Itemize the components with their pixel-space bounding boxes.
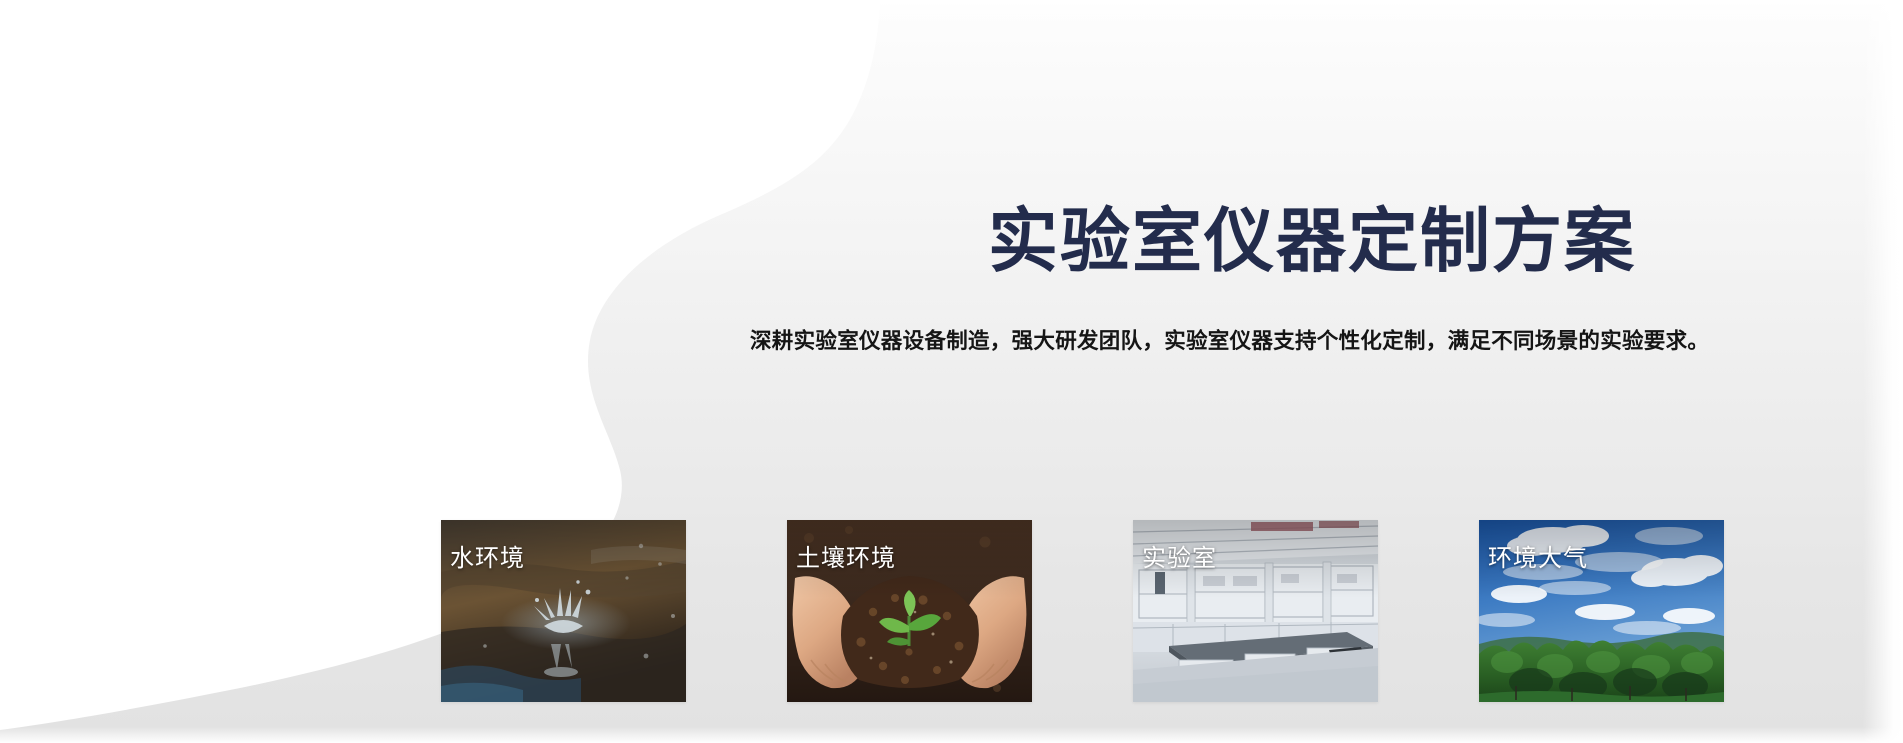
card-label-soil: 土壤环境 [796, 538, 896, 573]
card-label-water: 水环境 [450, 538, 525, 573]
laboratory-instrument-banner: 实验室仪器定制方案 深耕实验室仪器设备制造，强大研发团队，实验室仪器支持个性化定… [0, 0, 1903, 743]
page-title: 实验室仪器定制方案 [988, 204, 1636, 280]
decor-circle-large [404, 196, 536, 328]
decor-circle-small [295, 541, 367, 613]
category-card-laboratory[interactable]: 实验室 [1133, 520, 1378, 702]
card-label-atmosphere: 环境大气 [1488, 538, 1588, 573]
category-card-atmosphere[interactable]: 环境大气 [1479, 520, 1724, 702]
page-subtitle: 深耕实验室仪器设备制造，强大研发团队，实验室仪器支持个性化定制，满足不同场景的实… [750, 320, 1710, 362]
category-card-soil[interactable]: 土壤环境 [787, 520, 1032, 702]
card-label-laboratory: 实验室 [1142, 538, 1217, 573]
category-card-row: 水环境 [441, 520, 1470, 702]
category-card-water[interactable]: 水环境 [441, 520, 686, 702]
